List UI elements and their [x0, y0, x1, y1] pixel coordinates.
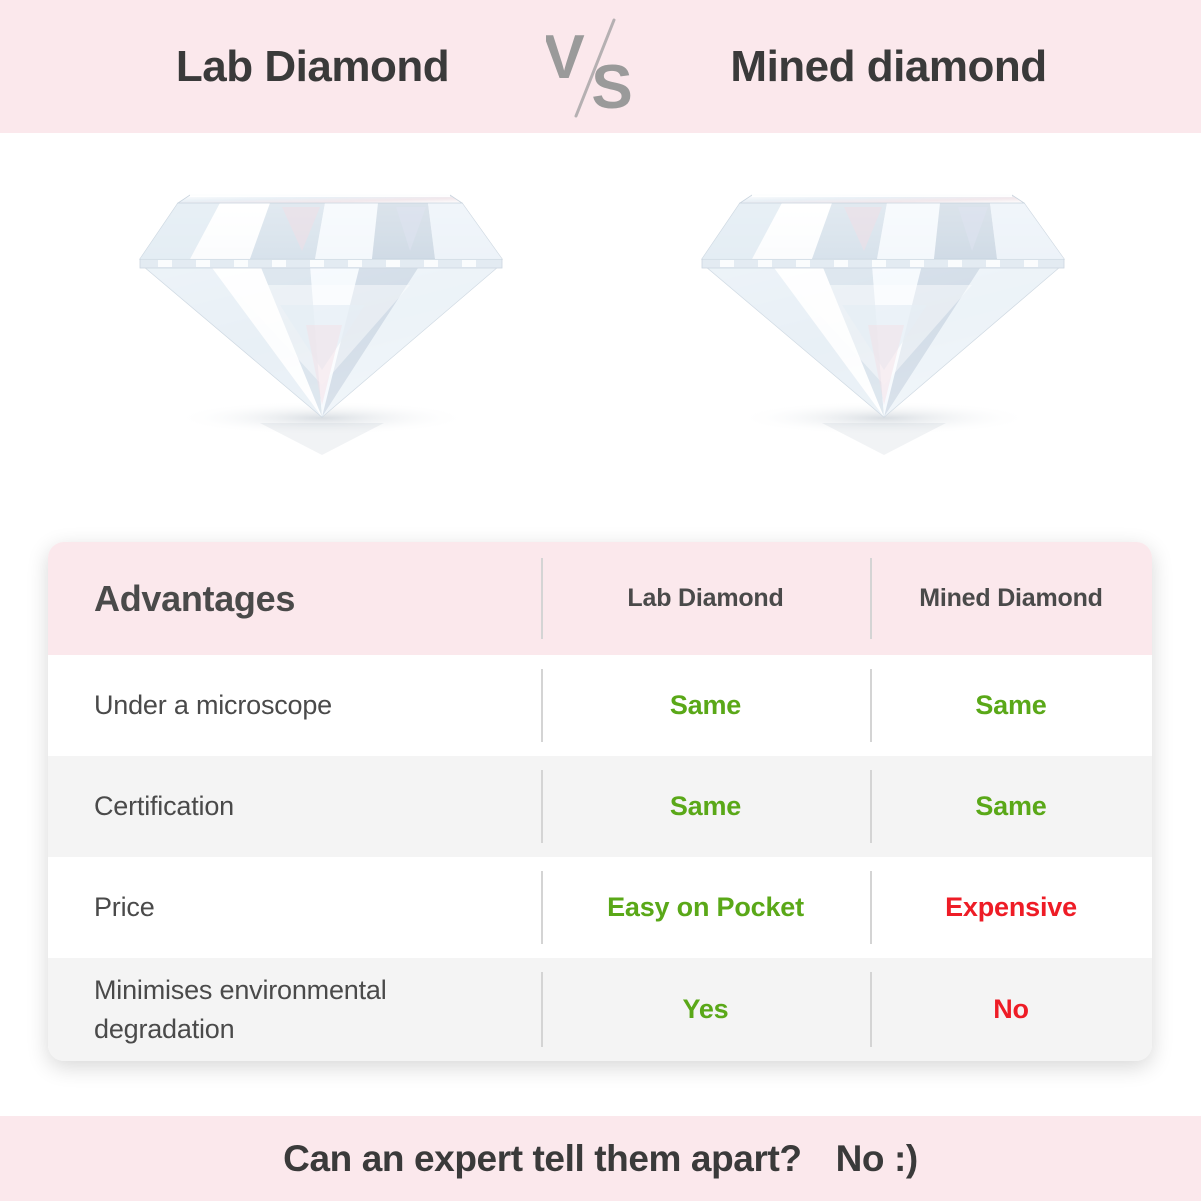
- table-header-mined-diamond: Mined Diamond: [870, 542, 1152, 655]
- header-title-mined: Mined diamond: [674, 42, 1104, 92]
- table-row: Certification Same Same: [48, 756, 1152, 857]
- row-mined-value-cell: No: [870, 958, 1152, 1061]
- row-lab-value: Same: [670, 690, 741, 721]
- row-lab-value-cell: Yes: [541, 958, 870, 1061]
- table-header-advantages-label: Advantages: [94, 578, 295, 620]
- mined-diamond-image: [672, 155, 1092, 465]
- table-row: Minimises environmental degradation Yes …: [48, 958, 1152, 1061]
- lab-diamond-image: [110, 155, 530, 465]
- row-feature-label: Price: [94, 888, 155, 926]
- table-row: Price Easy on Pocket Expensive: [48, 857, 1152, 958]
- comparison-table: Advantages Lab Diamond Mined Diamond Und…: [48, 542, 1152, 1061]
- table-header-lab-diamond-label: Lab Diamond: [627, 584, 783, 613]
- row-lab-value-cell: Same: [541, 756, 870, 857]
- table-header-lab-diamond: Lab Diamond: [541, 542, 870, 655]
- table-row: Under a microscope Same Same: [48, 655, 1152, 756]
- row-feature-cell: Certification: [48, 756, 541, 857]
- row-feature-cell: Price: [48, 857, 541, 958]
- row-feature-label: Under a microscope: [94, 686, 332, 724]
- header-band: Lab Diamond V S Mined diamond: [0, 0, 1201, 133]
- comparison-infographic: Lab Diamond V S Mined diamond: [0, 0, 1201, 1201]
- row-mined-value: No: [993, 994, 1029, 1025]
- row-lab-value-cell: Same: [541, 655, 870, 756]
- table-header-row: Advantages Lab Diamond Mined Diamond: [48, 542, 1152, 655]
- vs-icon: V S: [546, 12, 656, 122]
- row-mined-value: Same: [975, 690, 1046, 721]
- footer-band: Can an expert tell them apart? No :): [0, 1116, 1201, 1201]
- row-feature-label: Minimises environmental degradation: [94, 971, 524, 1048]
- row-mined-value: Same: [975, 791, 1046, 822]
- header-title-lab: Lab Diamond: [98, 42, 528, 92]
- row-lab-value-cell: Easy on Pocket: [541, 857, 870, 958]
- table-header-advantages: Advantages: [48, 542, 541, 655]
- row-feature-label: Certification: [94, 787, 234, 825]
- row-feature-cell: Under a microscope: [48, 655, 541, 756]
- diamond-image-area: [0, 133, 1201, 533]
- row-feature-cell: Minimises environmental degradation: [48, 958, 541, 1061]
- svg-text:V: V: [546, 23, 585, 92]
- footer-question: Can an expert tell them apart?: [283, 1138, 801, 1180]
- row-lab-value: Same: [670, 791, 741, 822]
- row-mined-value-cell: Expensive: [870, 857, 1152, 958]
- row-mined-value: Expensive: [945, 892, 1077, 923]
- row-mined-value-cell: Same: [870, 756, 1152, 857]
- footer-answer: No :): [836, 1138, 918, 1180]
- row-mined-value-cell: Same: [870, 655, 1152, 756]
- row-lab-value: Easy on Pocket: [607, 892, 804, 923]
- table-header-mined-diamond-label: Mined Diamond: [919, 584, 1103, 613]
- row-lab-value: Yes: [683, 994, 729, 1025]
